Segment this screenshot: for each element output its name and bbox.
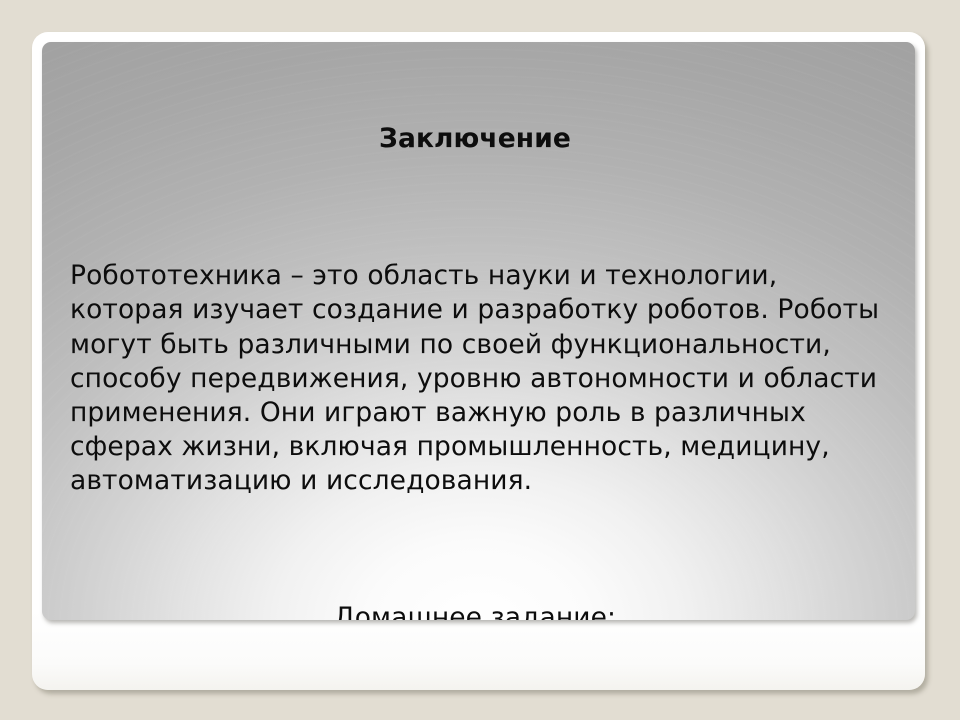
slide-text-block: Заключение Робототехника – это область н… — [70, 54, 880, 620]
slide-frame: Заключение Робототехника – это область н… — [32, 32, 925, 690]
slide-stage: Заключение Робототехника – это область н… — [0, 0, 960, 720]
homework-heading: Домашнее задание: — [70, 601, 880, 620]
slide-content-panel: Заключение Робототехника – это область н… — [42, 42, 915, 620]
conclusion-paragraph: Робототехника – это область науки и техн… — [70, 259, 880, 498]
slide-title: Заключение — [70, 122, 880, 156]
